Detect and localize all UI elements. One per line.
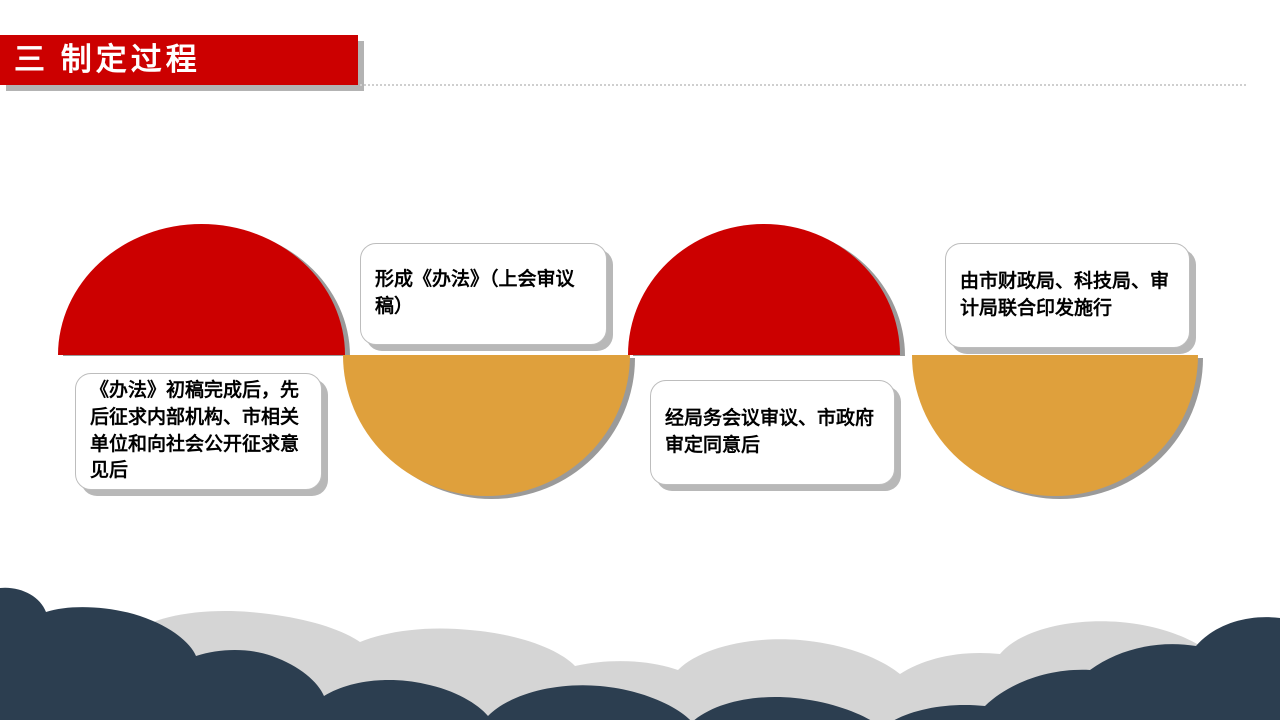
step-3-textbox: 经局务会议审议、市政府审定同意后 — [650, 380, 895, 485]
semicircle-2-orange-bottom — [343, 355, 630, 496]
step-4-text: 由市财政局、科技局、审计局联合印发施行 — [946, 269, 1189, 323]
step-3-text: 经局务会议审议、市政府审定同意后 — [651, 406, 894, 460]
step-4-textbox: 由市财政局、科技局、审计局联合印发施行 — [945, 243, 1190, 348]
step-2-text: 形成《办法》（上会审议稿） — [361, 267, 606, 321]
semicircle-1-red-top — [58, 224, 345, 355]
step-1-textbox: 《办法》初稿完成后，先后征求内部机构、市相关单位和向社会公开征求意见后 — [75, 373, 322, 490]
title-divider-line — [360, 84, 1246, 86]
step-1-text: 《办法》初稿完成后，先后征求内部机构、市相关单位和向社会公开征求意见后 — [76, 378, 321, 486]
step-2-textbox: 形成《办法》（上会审议稿） — [360, 243, 607, 345]
semicircle-3-red-top — [628, 224, 900, 355]
slide-canvas: 三 制定过程 《办法》初稿完成后，先后征求内部机构、市相关单位和向社会公开征求意… — [0, 0, 1280, 720]
bottom-cloud-decoration — [0, 570, 1280, 720]
page-title: 三 制定过程 — [14, 34, 358, 86]
semicircle-4-orange-bottom — [912, 355, 1198, 496]
